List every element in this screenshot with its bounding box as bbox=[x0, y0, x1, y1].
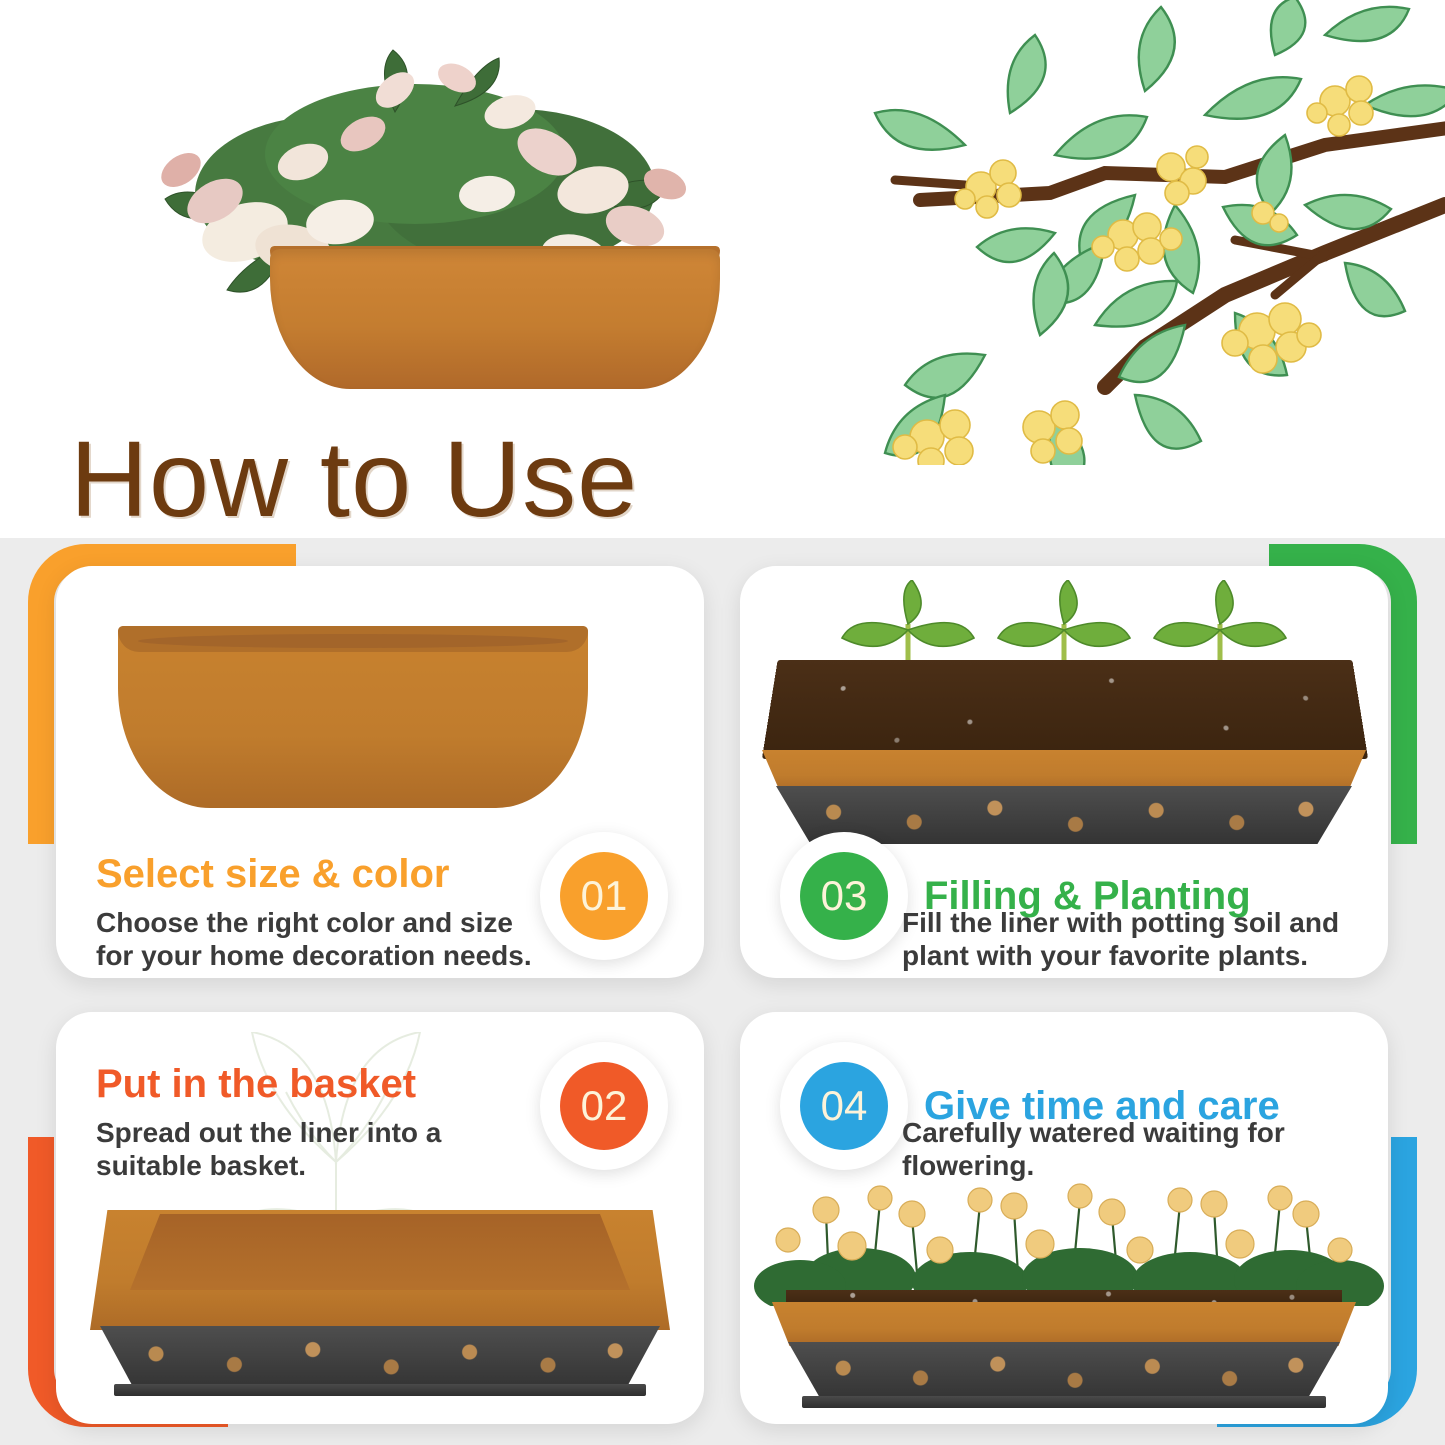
osmanthus-branch-illustration bbox=[805, 0, 1445, 465]
step-04-badge: 04 bbox=[780, 1042, 908, 1170]
step-04-image bbox=[740, 1174, 1388, 1424]
hero-planter-image bbox=[95, 0, 735, 414]
step-02-description: Spread out the liner into a suitable bas… bbox=[96, 1116, 566, 1182]
planter-body bbox=[270, 249, 720, 389]
step-01-description: Choose the right color and size for your… bbox=[96, 906, 566, 972]
step-02-title: Put in the basket bbox=[96, 1064, 416, 1104]
roses-svg bbox=[740, 1174, 1388, 1306]
step-04-number: 04 bbox=[800, 1062, 888, 1150]
page-title: How to Use bbox=[70, 425, 638, 533]
step-03-number: 03 bbox=[800, 852, 888, 940]
flower-cluster bbox=[955, 160, 1021, 218]
step-02-header: Put in the basket bbox=[96, 1064, 416, 1104]
step-card-02[interactable]: Put in the basket Spread out the liner i… bbox=[56, 1012, 704, 1424]
step-card-03[interactable]: 03 Filling & Planting Fill the liner wit… bbox=[740, 566, 1388, 978]
step-01-badge: 01 bbox=[540, 832, 668, 960]
step-02-number: 02 bbox=[560, 1062, 648, 1150]
step-card-04[interactable]: 04 Give time and care Carefully watered … bbox=[740, 1012, 1388, 1424]
hero-section: How to Use bbox=[0, 0, 1445, 538]
step-02-badge: 02 bbox=[540, 1042, 668, 1170]
step-02-image bbox=[56, 1202, 704, 1417]
step-03-badge: 03 bbox=[780, 832, 908, 960]
step-03-description: Fill the liner with potting soil and pla… bbox=[902, 906, 1372, 972]
step-04-description: Carefully watered waiting for flowering. bbox=[902, 1116, 1372, 1182]
step-card-01[interactable]: Select size & color Choose the right col… bbox=[56, 566, 704, 978]
step-01-number: 01 bbox=[560, 852, 648, 940]
how-to-use-infographic: How to Use Select size & color Choose th… bbox=[0, 0, 1445, 1445]
step-03-image bbox=[740, 580, 1388, 840]
step-01-image bbox=[56, 604, 704, 834]
branch-svg bbox=[805, 0, 1445, 465]
step-01-title: Select size & color bbox=[96, 854, 449, 894]
